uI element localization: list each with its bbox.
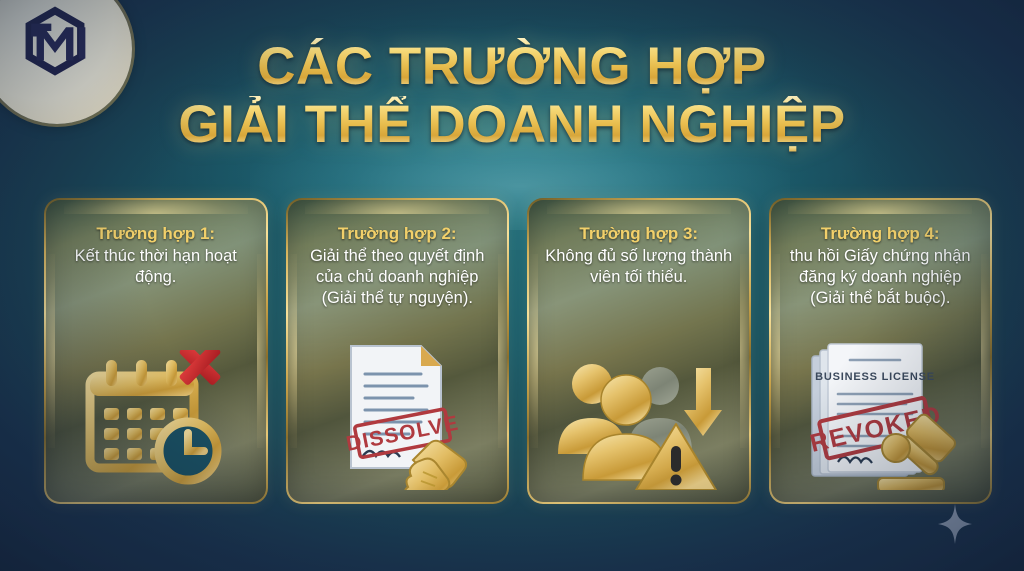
case-description: Giải thể theo quyết định của chủ doanh n… (298, 246, 498, 309)
case-label: Trường hợp 3: (579, 224, 698, 244)
title-line-1: CÁC TRƯỜNG HỢP (0, 38, 1024, 96)
hexagon-monogram-logo-icon (13, 6, 101, 93)
cases-row: Trường hợp 1: Kết thúc thời hạn hoạt độn… (44, 198, 992, 504)
brand-logo[interactable] (0, 0, 132, 124)
case-card-1[interactable]: Trường hợp 1: Kết thúc thời hạn hoạt độn… (44, 198, 268, 504)
down-arrow-icon (684, 368, 722, 436)
sparkle-icon (938, 504, 972, 549)
case-description: Kết thúc thời hạn hoạt động. (56, 246, 256, 288)
calendar-expired-icon (56, 330, 256, 490)
members-decrease-warning-icon (539, 330, 739, 490)
business-license-title: BUSINESS LICENSE (815, 371, 935, 383)
red-cross-icon (178, 350, 221, 386)
case-description: thu hồi Giấy chứng nhận đăng ký doanh ng… (781, 246, 981, 309)
infographic-canvas: CÁC TRƯỜNG HỢP GIẢI THỂ DOANH NGHIỆP Trư… (0, 0, 1024, 571)
case-label: Trường hợp 4: (821, 224, 940, 244)
case-description: Không đủ số lượng thành viên tối thiểu. (539, 246, 739, 288)
case-label: Trường hợp 2: (338, 224, 457, 244)
case-card-3[interactable]: Trường hợp 3: Không đủ số lượng thành vi… (527, 198, 751, 504)
page-title: CÁC TRƯỜNG HỢP GIẢI THỂ DOANH NGHIỆP (0, 38, 1024, 154)
case-card-4[interactable]: Trường hợp 4: thu hồi Giấy chứng nhận đă… (769, 198, 993, 504)
case-card-2[interactable]: Trường hợp 2: Giải thể theo quyết định c… (286, 198, 510, 504)
license-revoked-gavel-icon: BUSINESS LICENSE REVOKED (781, 330, 981, 490)
document-dissolve-handshake-icon: DISSOLVE (298, 330, 498, 490)
title-line-2: GIẢI THỂ DOANH NGHIỆP (0, 96, 1024, 154)
clock-icon (159, 422, 217, 480)
case-label: Trường hợp 1: (96, 224, 215, 244)
